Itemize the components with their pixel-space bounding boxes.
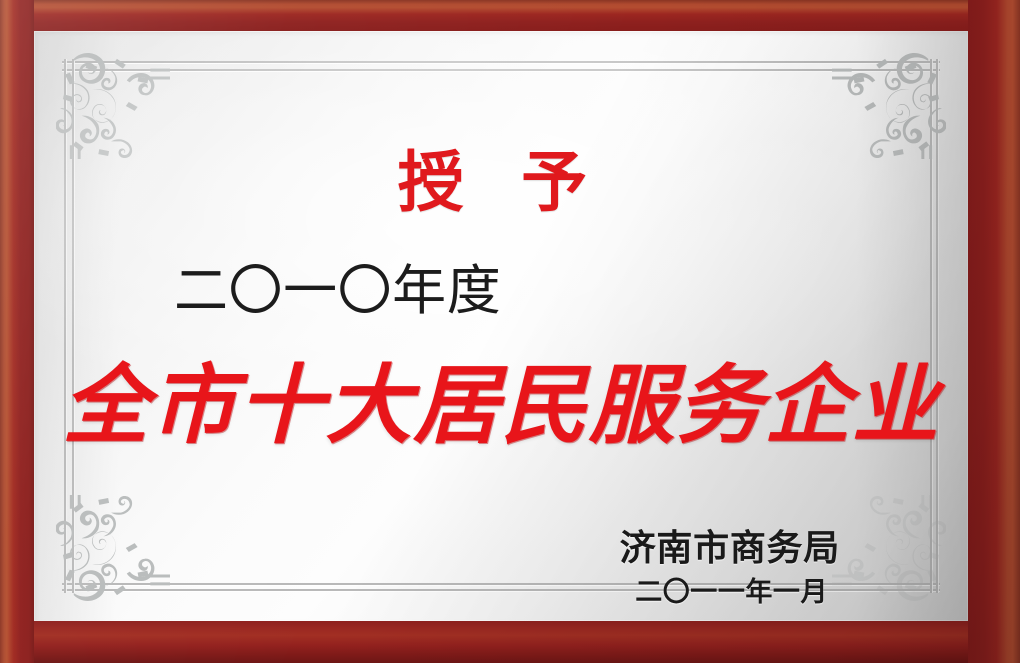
award-plaque: 授 予 二〇一〇年度 全市十大居民服务企业 济南市商务局 二〇一一年一月 bbox=[0, 0, 1020, 663]
certificate-content: 授 予 二〇一〇年度 全市十大居民服务企业 济南市商务局 二〇一一年一月 bbox=[34, 31, 968, 621]
award-title: 全市十大居民服务企业 bbox=[34, 363, 968, 449]
frame-rail-right bbox=[968, 0, 1020, 663]
award-year: 二〇一〇年度 bbox=[174, 264, 501, 318]
frame-rail-left bbox=[0, 0, 34, 663]
issue-date: 二〇一一年一月 bbox=[635, 579, 828, 606]
certificate-panel: 授 予 二〇一〇年度 全市十大居民服务企业 济南市商务局 二〇一一年一月 bbox=[34, 31, 968, 621]
issuing-authority: 济南市商务局 bbox=[620, 531, 840, 567]
frame-rail-bottom bbox=[0, 621, 1020, 663]
grant-heading: 授 予 bbox=[34, 149, 968, 215]
frame-rail-top bbox=[0, 0, 1020, 31]
